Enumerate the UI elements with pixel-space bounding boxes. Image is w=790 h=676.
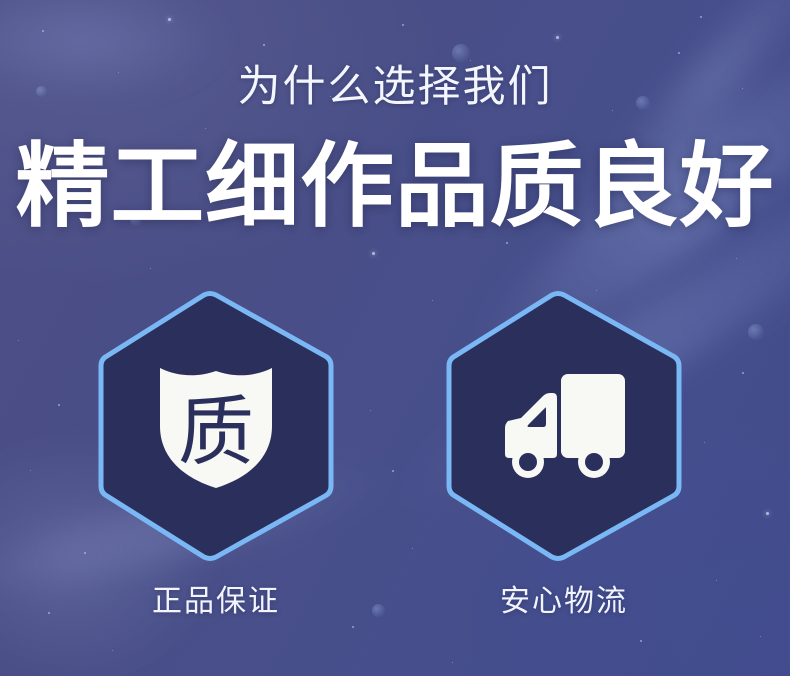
feature-badge-caption-logistics: 安心物流: [442, 576, 686, 620]
feature-badge-logistics[interactable]: 安心物流: [442, 288, 686, 628]
shield-quality-icon: 质: [94, 288, 338, 564]
hexagon-frame-logistics: [442, 288, 686, 564]
banner-headline: 精工细作品质良好: [0, 136, 790, 239]
feature-badge-caption-quality: 正品保证: [94, 576, 338, 620]
feature-badge-quality[interactable]: 质 正品保证: [94, 288, 338, 628]
hexagon-frame-quality: 质: [94, 288, 338, 564]
banner-subtitle: 为什么选择我们: [0, 63, 790, 112]
promo-banner: 为什么选择我们 精工细作品质良好: [0, 0, 790, 676]
feature-badge-group: 质 正品保证: [0, 288, 790, 648]
svg-text:质: 质: [178, 387, 254, 476]
delivery-truck-icon: [442, 288, 686, 564]
